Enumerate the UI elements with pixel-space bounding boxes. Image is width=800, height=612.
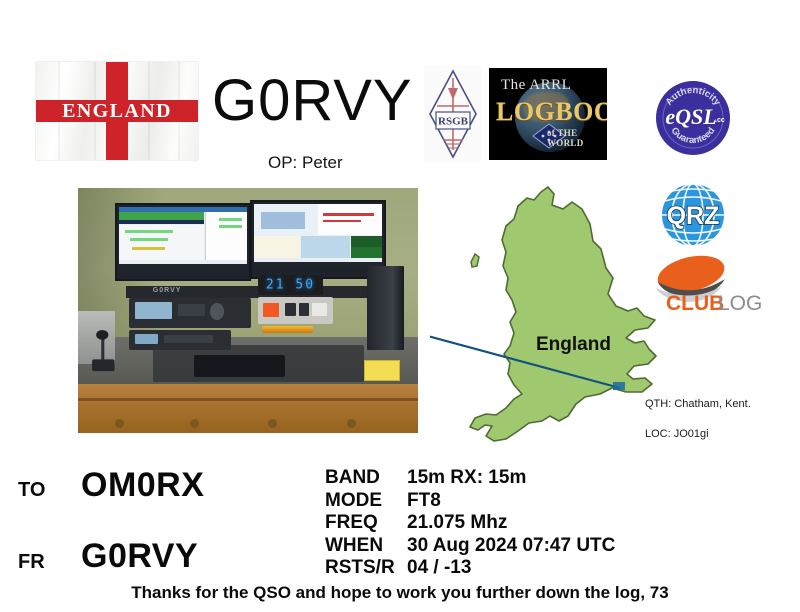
lotw-line3: of THE WORLD (547, 128, 607, 148)
qso-value-when: 30 Aug 2024 07:47 UTC (407, 535, 615, 558)
lotw-line2: LOGBOOK (496, 97, 607, 127)
svg-text:.cc: .cc (715, 117, 725, 124)
to-callsign: OM0RX (81, 466, 204, 505)
qth-text: QTH: Chatham, Kent. (645, 398, 751, 410)
svg-text:QRZ: QRZ (667, 202, 720, 230)
photo-led-clock: 21 50 (258, 275, 323, 295)
qso-key-rsts: RSTS/R (325, 557, 407, 580)
photo-notepad (364, 360, 400, 382)
table-row: MODE FT8 (325, 490, 615, 513)
photo-desk-microphone (88, 330, 119, 374)
rsgb-icon: RSGB (424, 66, 482, 162)
qso-details-table: BAND 15m RX: 15m MODE FT8 FREQ 21.075 Mh… (325, 467, 615, 580)
svg-text:RSGB: RSGB (438, 116, 469, 128)
shack-photo: G0RVY 21 50 (78, 188, 418, 433)
page-title-callsign: G0RVY (212, 72, 413, 130)
lotw-line1: The ARRL (501, 77, 571, 94)
from-label: FR (18, 551, 45, 574)
loc-text: LOC: JO01gi (645, 428, 709, 440)
lotw-logo: The ARRL LOGBOOK of THE WORLD (489, 68, 607, 160)
england-map (430, 178, 670, 446)
svg-text:LOG: LOG (718, 292, 762, 314)
photo-transceiver-top (129, 298, 251, 327)
photo-desk-wood (78, 384, 418, 433)
qso-value-band: 15m RX: 15m (407, 467, 615, 490)
table-row: RSTS/R 04 / -13 (325, 557, 615, 580)
qso-value-rsts: 04 / -13 (407, 557, 615, 580)
qso-key-mode: MODE (325, 490, 407, 513)
qso-value-freq: 21.075 Mhz (407, 512, 615, 535)
from-callsign: G0RVY (81, 537, 198, 576)
photo-keyboard (194, 355, 286, 377)
map-region-label: England (536, 334, 611, 356)
eqsl-icon: Authenticity Guaranteed eQSL .cc (653, 78, 733, 158)
footer-message: Thanks for the QSO and hope to work you … (0, 583, 800, 603)
monitor-left (115, 203, 251, 281)
qso-key-when: WHEN (325, 535, 407, 558)
operator-name: OP: Peter (268, 153, 343, 173)
table-row: FREQ 21.075 Mhz (325, 512, 615, 535)
table-row: WHEN 30 Aug 2024 07:47 UTC (325, 535, 615, 558)
to-label: TO (18, 479, 45, 502)
map-icon (430, 178, 670, 446)
photo-amber-indicator (262, 326, 313, 332)
qso-key-freq: FREQ (325, 512, 407, 535)
svg-text:eQSL: eQSL (665, 104, 716, 129)
photo-pc-tower (367, 266, 404, 349)
flag-label: ENGLAND (36, 99, 198, 123)
qso-key-band: BAND (325, 467, 407, 490)
qsl-card: ENGLAND G0RVY OP: Peter RSGB The ARRL LO… (0, 0, 800, 612)
clock-display: 21 50 (258, 277, 323, 292)
england-flag: ENGLAND (36, 62, 198, 160)
photo-psu (258, 297, 333, 324)
table-row: BAND 15m RX: 15m (325, 467, 615, 490)
monitor-right (250, 200, 386, 278)
eqsl-logo: Authenticity Guaranteed eQSL .cc (653, 78, 733, 158)
svg-text:CLUB: CLUB (666, 292, 724, 314)
rig-callsign-label: G0RVY (153, 287, 182, 294)
qso-value-mode: FT8 (407, 490, 615, 513)
rsgb-logo: RSGB (424, 66, 482, 162)
